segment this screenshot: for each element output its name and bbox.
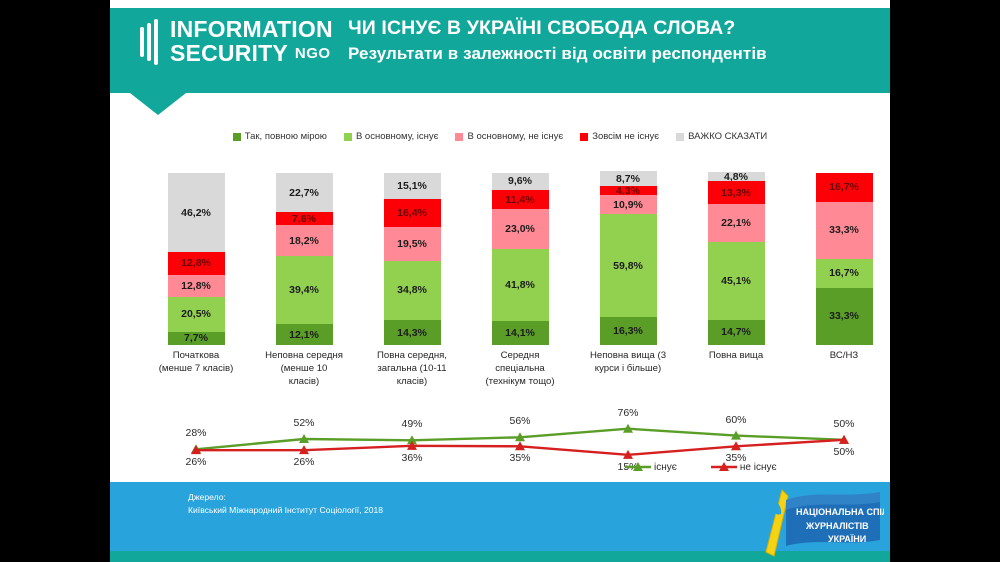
logo-bars-icon: [140, 19, 161, 65]
category-label-line: Повна середня,: [358, 350, 466, 363]
bar-segment-value: 16,4%: [397, 207, 427, 219]
bar-segment-value: 22,7%: [289, 187, 319, 199]
bar-segment: 59,8%: [600, 214, 657, 317]
category-label-line: курси і більше): [574, 363, 682, 376]
stacked-bar: 8,7%4,3%10,9%59,8%16,3%: [600, 171, 657, 345]
legend-item-1: В основному, існує: [344, 131, 439, 142]
line-point-value: 60%: [708, 414, 764, 426]
stacked-bar: 4,8%13,3%22,1%45,1%14,7%: [708, 172, 765, 345]
legend-swatch-icon: [580, 133, 588, 141]
line-point-value: 56%: [492, 415, 548, 427]
bar-segment-value: 39,4%: [289, 284, 319, 296]
bar-segment: 41,8%: [492, 249, 549, 321]
bar-segment: 11,4%: [492, 190, 549, 210]
category-label-line: Середня: [466, 350, 574, 363]
category-label: Повна вища: [682, 350, 790, 363]
bar-segment: 4,3%: [600, 186, 657, 195]
bar-segment: 7,6%: [276, 212, 333, 225]
bar-segment-value: 46,2%: [181, 207, 211, 219]
bar-segment-value: 7,7%: [184, 332, 208, 344]
source-note: Джерело: Київський Міжнародний Інститут …: [188, 491, 383, 518]
bar-segment-value: 22,1%: [721, 217, 751, 229]
header-speech-notch: [130, 93, 186, 115]
category-label-line: (технікум тощо): [466, 376, 574, 389]
line-legend-item: не існує: [711, 461, 777, 473]
category-label-line: загальна (10-11: [358, 363, 466, 376]
legend-item-4: ВАЖКО СКАЗАТИ: [676, 131, 767, 142]
category-label: Початкова(менше 7 класів): [142, 350, 250, 376]
bar-segment: 16,4%: [384, 199, 441, 227]
bar-segment-value: 23,0%: [505, 223, 535, 235]
bar-segment-value: 4,3%: [616, 186, 640, 195]
slide-root: INFORMATION SECURITY NGO ЧИ ІСНУЄ В УКРА…: [0, 0, 1000, 562]
bar-legend: Так, повною міроюВ основному, існуєВ осн…: [110, 131, 890, 142]
bar-segment-value: 59,8%: [613, 260, 643, 272]
bar-segment: 10,9%: [600, 195, 657, 214]
bar-segment-value: 19,5%: [397, 238, 427, 250]
bar-segment-value: 16,3%: [613, 325, 643, 337]
bar-segment-value: 11,4%: [505, 194, 534, 206]
stacked-bar: 15,1%16,4%19,5%34,8%14,3%: [384, 173, 441, 345]
category-label: Повна середня,загальна (10-11класів): [358, 350, 466, 389]
bar-segment-value: 12,8%: [181, 257, 211, 269]
bar-segment-value: 41,8%: [505, 279, 535, 291]
badge-line3: УКРАЇНИ: [828, 534, 866, 544]
title-block: ЧИ ІСНУЄ В УКРАЇНІ СВОБОДА СЛОВА? Резуль…: [348, 16, 878, 65]
bar-segment: 12,1%: [276, 324, 333, 345]
letterbox-left: [0, 0, 110, 562]
bar-segment: 7,7%: [168, 332, 225, 345]
line-legend-label: існує: [654, 462, 677, 473]
stacked-bar: 46,2%12,8%12,8%20,5%7,7%: [168, 173, 225, 345]
bar-segment: 14,1%: [492, 321, 549, 345]
line-point-value: 49%: [384, 418, 440, 430]
bar-segment-value: 45,1%: [721, 275, 751, 287]
bar-segment: 16,7%: [816, 173, 873, 202]
bar-segment-value: 10,9%: [613, 199, 643, 211]
bar-segment: 13,3%: [708, 181, 765, 204]
bar-segment: 22,1%: [708, 204, 765, 242]
category-label-line: класів): [250, 376, 358, 389]
category-label-line: класів): [358, 376, 466, 389]
category-label-line: ВС/НЗ: [790, 350, 890, 363]
line-point-value: 52%: [276, 417, 332, 429]
legend-label: Так, повною мірою: [245, 131, 327, 142]
source-text: Київський Міжнародний Інститут Соціологі…: [188, 504, 383, 517]
bar-segment: 14,7%: [708, 320, 765, 345]
stacked-bar-chart: 46,2%12,8%12,8%20,5%7,7%22,7%7,6%18,2%39…: [110, 155, 890, 345]
line-legend-marker-icon: [711, 461, 737, 473]
bar-column: 8,7%4,3%10,9%59,8%16,3%: [600, 171, 657, 345]
bar-segment-value: 16,7%: [829, 267, 859, 279]
bar-column: 46,2%12,8%12,8%20,5%7,7%: [168, 173, 225, 345]
bar-segment-value: 15,1%: [397, 180, 427, 192]
nsju-badge-logo: НАЦІОНАЛЬНА СПІЛКА ЖУРНАЛІСТІВ УКРАЇНИ: [744, 482, 884, 560]
bar-column: 22,7%7,6%18,2%39,4%12,1%: [276, 173, 333, 345]
line-point-value: 50%: [816, 418, 872, 430]
bar-segment: 46,2%: [168, 173, 225, 252]
page-title: ЧИ ІСНУЄ В УКРАЇНІ СВОБОДА СЛОВА?: [348, 16, 878, 40]
legend-label: Зовсім не існує: [592, 131, 659, 142]
line-point-value: 28%: [168, 427, 224, 439]
category-label-line: (менше 10: [250, 363, 358, 376]
bar-segment-value: 8,7%: [616, 173, 640, 185]
line-point-value: 36%: [384, 452, 440, 464]
line-legend-label: не існує: [740, 462, 777, 473]
bar-segment: 12,8%: [168, 275, 225, 297]
line-point-value: 50%: [816, 446, 872, 458]
legend-label: ВАЖКО СКАЗАТИ: [688, 131, 767, 142]
legend-swatch-icon: [233, 133, 241, 141]
category-axis-labels: Початкова(менше 7 класів)Неповна середня…: [110, 350, 890, 406]
line-point-value: 76%: [600, 407, 656, 419]
line-point-value: 26%: [168, 456, 224, 468]
legend-item-2: В основному, не існує: [455, 131, 563, 142]
bar-segment: 9,6%: [492, 173, 549, 190]
bar-segment: 33,3%: [816, 202, 873, 259]
stacked-bar: 9,6%11,4%23,0%41,8%14,1%: [492, 173, 549, 345]
category-label: ВС/НЗ: [790, 350, 890, 363]
brand-line1: INFORMATION: [170, 18, 333, 42]
bar-segment-value: 33,3%: [829, 310, 859, 322]
bar-column: 16,7%33,3%16,7%33,3%: [816, 173, 873, 345]
bar-segment: 34,8%: [384, 261, 441, 321]
bar-segment-value: 18,2%: [289, 235, 319, 247]
bar-segment-value: 20,5%: [181, 308, 211, 320]
bar-segment: 16,7%: [816, 259, 873, 288]
legend-swatch-icon: [344, 133, 352, 141]
brand-line2: SECURITY: [170, 42, 288, 66]
line-legend: існуєне існує: [625, 461, 825, 473]
category-label-line: спеціальна: [466, 363, 574, 376]
legend-swatch-icon: [676, 133, 684, 141]
page-subtitle: Результати в залежності від освіти респо…: [348, 43, 878, 65]
bar-segment-value: 14,7%: [721, 326, 751, 338]
legend-swatch-icon: [455, 133, 463, 141]
bar-segment: 4,8%: [708, 172, 765, 181]
legend-label: В основному, не існує: [467, 131, 563, 142]
bar-segment: 23,0%: [492, 209, 549, 249]
bar-segment: 15,1%: [384, 173, 441, 199]
category-label-line: Неповна вища (3: [574, 350, 682, 363]
bar-segment-value: 9,6%: [508, 175, 532, 187]
legend-label: В основному, існує: [356, 131, 439, 142]
bar-segment-value: 7,6%: [292, 213, 316, 225]
bar-segment-value: 12,8%: [181, 280, 211, 292]
bar-segment-value: 16,7%: [829, 181, 859, 193]
legend-item-3: Зовсім не існує: [580, 131, 659, 142]
badge-line1: НАЦІОНАЛЬНА СПІЛКА: [796, 507, 884, 517]
brand-logo: INFORMATION SECURITY NGO: [140, 18, 365, 66]
bar-segment: 20,5%: [168, 297, 225, 332]
bar-column: 4,8%13,3%22,1%45,1%14,7%: [708, 172, 765, 345]
bar-segment-value: 34,8%: [397, 284, 427, 296]
bar-column: 15,1%16,4%19,5%34,8%14,3%: [384, 173, 441, 345]
bar-segment-value: 14,3%: [397, 327, 427, 339]
stacked-bar: 22,7%7,6%18,2%39,4%12,1%: [276, 173, 333, 345]
slide-canvas: INFORMATION SECURITY NGO ЧИ ІСНУЄ В УКРА…: [110, 0, 890, 562]
line-point-value: 35%: [492, 452, 548, 464]
bar-segment: 22,7%: [276, 173, 333, 212]
bar-column: 9,6%11,4%23,0%41,8%14,1%: [492, 173, 549, 345]
category-label: Середняспеціальна(технікум тощо): [466, 350, 574, 389]
bar-segment: 39,4%: [276, 256, 333, 324]
category-label-line: Повна вища: [682, 350, 790, 363]
bar-segment-value: 14,1%: [505, 327, 535, 339]
bar-segment: 18,2%: [276, 225, 333, 256]
bar-segment: 12,8%: [168, 252, 225, 274]
letterbox-right: [890, 0, 1000, 562]
bar-segment-value: 33,3%: [829, 224, 859, 236]
bar-segment: 16,3%: [600, 317, 657, 345]
bar-segment: 14,3%: [384, 320, 441, 345]
category-label-line: Неповна середня: [250, 350, 358, 363]
category-label: Неповна середня(менше 10класів): [250, 350, 358, 389]
bar-segment: 19,5%: [384, 227, 441, 261]
line-legend-item: існує: [625, 461, 677, 473]
bar-segment-value: 12,1%: [289, 329, 319, 341]
category-label-line: Початкова: [142, 350, 250, 363]
line-legend-marker-icon: [625, 461, 651, 473]
line-point-value: 26%: [276, 456, 332, 468]
bar-segment-value: 4,8%: [724, 172, 748, 181]
legend-item-0: Так, повною мірою: [233, 131, 327, 142]
category-label-line: (менше 7 класів): [142, 363, 250, 376]
badge-line2: ЖУРНАЛІСТІВ: [805, 521, 869, 531]
footer-bar: Джерело: Київський Міжнародний Інститут …: [110, 482, 890, 562]
stacked-bar: 16,7%33,3%16,7%33,3%: [816, 173, 873, 345]
source-label: Джерело:: [188, 491, 383, 504]
category-label: Неповна вища (3курси і більше): [574, 350, 682, 376]
bar-segment: 45,1%: [708, 242, 765, 320]
brand-suffix: NGO: [295, 46, 331, 62]
bar-segment: 8,7%: [600, 171, 657, 186]
bar-segment-value: 13,3%: [721, 187, 751, 199]
bar-segment: 33,3%: [816, 288, 873, 345]
